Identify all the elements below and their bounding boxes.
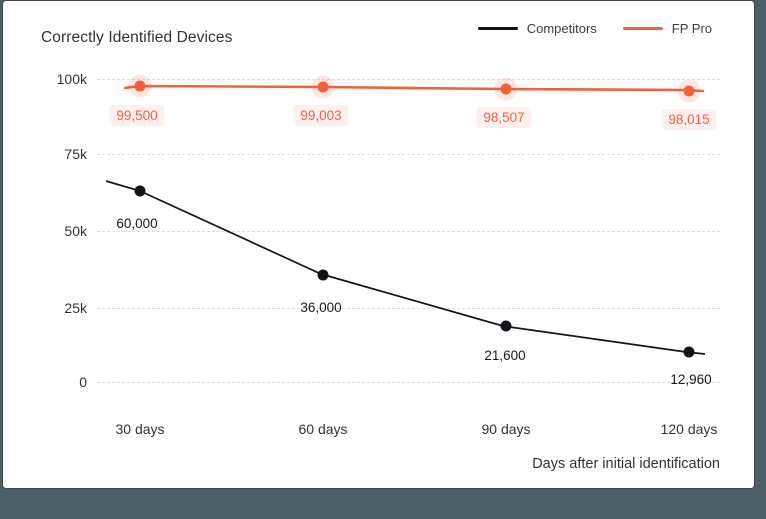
data-label-competitors-60: 36,000 bbox=[300, 300, 341, 315]
x-axis-tick-30-days: 30 days bbox=[115, 421, 164, 437]
plot-area: 100k 75k 50k 25k 0 99,500 99,003 bbox=[3, 1, 756, 490]
data-label-fp-pro-120: 98,015 bbox=[661, 109, 716, 130]
data-point-fp-pro-90[interactable] bbox=[501, 84, 512, 95]
x-axis-tick-60-days: 60 days bbox=[298, 421, 347, 437]
data-point-competitors-30[interactable] bbox=[135, 186, 146, 197]
data-point-fp-pro-30[interactable] bbox=[135, 81, 146, 92]
line-fp-pro bbox=[125, 86, 703, 91]
x-axis-tick-90-days: 90 days bbox=[481, 421, 530, 437]
line-competitors bbox=[106, 181, 705, 354]
data-point-competitors-120[interactable] bbox=[684, 347, 695, 358]
data-label-competitors-30: 60,000 bbox=[116, 216, 157, 231]
data-label-competitors-90: 21,600 bbox=[484, 348, 525, 363]
chart-card: Correctly Identified Devices Competitors… bbox=[2, 0, 755, 489]
x-axis-tick-120-days: 120 days bbox=[661, 421, 718, 437]
data-label-competitors-120: 12,960 bbox=[670, 372, 711, 387]
data-point-fp-pro-120[interactable] bbox=[684, 86, 695, 97]
data-label-fp-pro-60: 99,003 bbox=[293, 105, 348, 126]
data-point-competitors-90[interactable] bbox=[501, 321, 512, 332]
x-axis-title: Days after initial identification bbox=[532, 456, 720, 472]
data-label-fp-pro-90: 98,507 bbox=[476, 107, 531, 128]
series-lines bbox=[3, 1, 756, 490]
data-point-competitors-60[interactable] bbox=[318, 270, 329, 281]
data-point-fp-pro-60[interactable] bbox=[318, 82, 329, 93]
data-label-fp-pro-30: 99,500 bbox=[109, 105, 164, 126]
